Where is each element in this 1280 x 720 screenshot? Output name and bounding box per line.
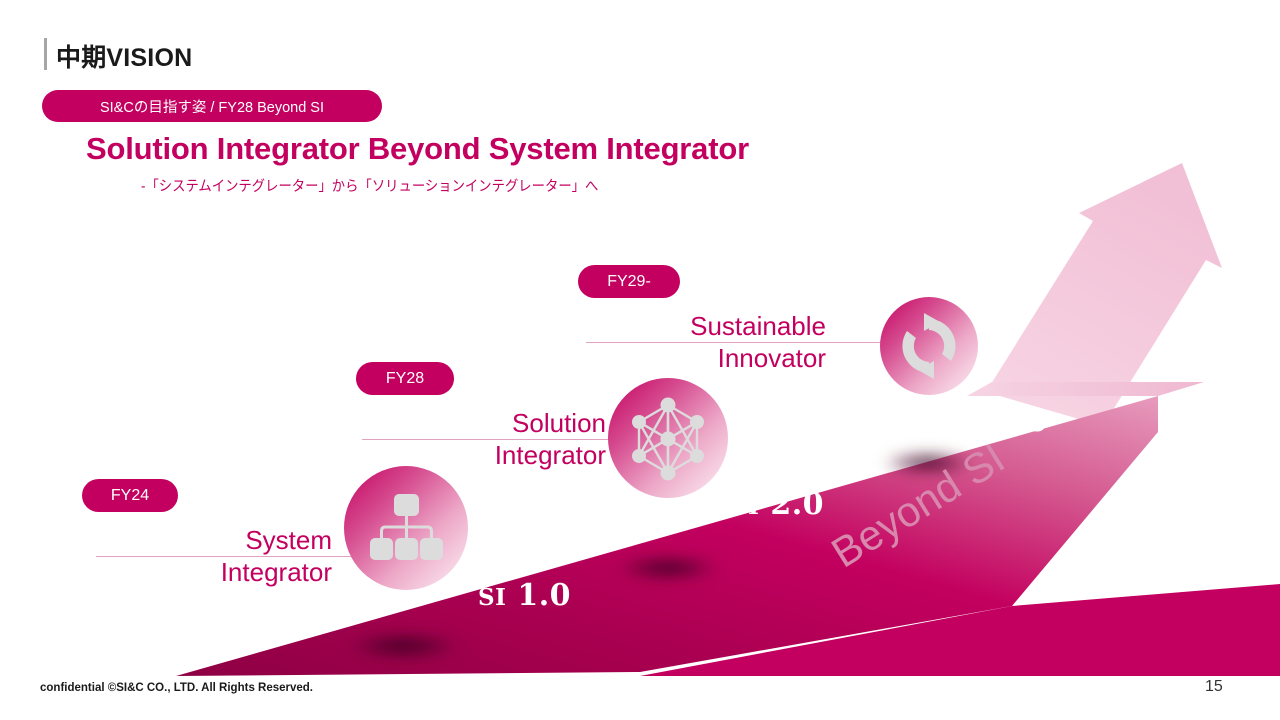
si-level-3-label: SI 3.0	[955, 404, 1048, 439]
refresh-cycle-icon	[880, 297, 978, 395]
org-chart-icon	[344, 466, 468, 590]
footer-copyright: confidential ©SI&C CO., LTD. All Rights …	[40, 682, 313, 694]
step-fy28-label: Solution Integrator	[378, 407, 606, 471]
step-fy29-label-line1: Sustainable	[596, 310, 826, 342]
si-level-1-label: SI 1.0	[478, 578, 571, 613]
step-fy28-label-line2: Integrator	[378, 439, 606, 471]
si-level-3-number: 3.0	[994, 404, 1048, 439]
network-mesh-icon	[608, 378, 728, 498]
step-fy28-label-line1: Solution	[378, 407, 606, 439]
step-fy24-label: System Integrator	[104, 524, 332, 588]
si-level-1-number: 1.0	[517, 578, 571, 613]
page-number: 15	[1205, 678, 1223, 696]
step-fy24-label-line2: Integrator	[104, 556, 332, 588]
si-level-2-prefix: SI	[731, 493, 759, 520]
si-level-1-prefix: SI	[478, 584, 506, 611]
step-fy24-circle	[344, 466, 468, 590]
step-fy29-label-line2: Innovator	[596, 342, 826, 374]
si-level-2-label: SI 2.0	[731, 487, 824, 522]
slide-canvas: 中期VISION SI&Cの目指す姿 / FY28 Beyond SI Solu…	[0, 0, 1280, 720]
step-fy29-circle	[880, 297, 978, 395]
step-fy24-label-line1: System	[104, 524, 332, 556]
step-fy28-circle	[608, 378, 728, 498]
si-level-3-prefix: SI	[955, 410, 983, 437]
step-fy29-label: Sustainable Innovator	[596, 310, 826, 374]
ramp-step-top	[967, 382, 1204, 396]
step-fy24-pill: FY24	[82, 479, 178, 512]
step-fy29-pill: FY29-	[578, 265, 680, 298]
step-fy28-pill: FY28	[356, 362, 454, 395]
si-level-2-number: 2.0	[770, 487, 824, 522]
